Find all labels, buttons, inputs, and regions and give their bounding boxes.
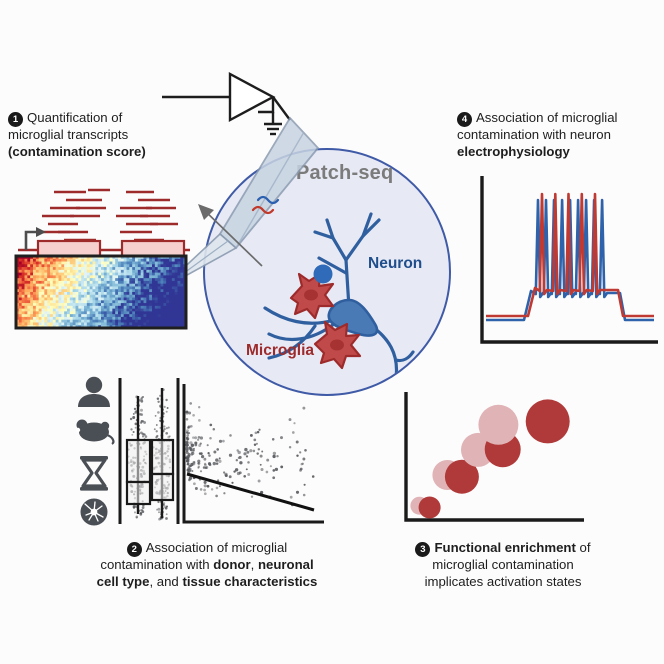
callout-4-line3: electrophysiology [457,144,570,159]
callout-2-bold1: donor [213,557,250,572]
person-icon [78,377,110,407]
callout-2-text2: contamination with [100,557,213,572]
callout-2-bold4: tissue characteristics [182,574,317,589]
callout-4-line2: contamination with neuron [457,127,611,142]
callout-4: 4Association of microglial contamination… [457,110,662,160]
callout-3-line3: implicates activation states [425,574,582,589]
callout-1-line3: (contamination score) [8,144,146,159]
panel2-icon-column [72,374,116,526]
boxplot-chart [118,378,180,526]
read-stack-right [116,192,178,240]
callout-2-text1: Association of microglial [146,540,287,555]
callout-2-text4: , and [149,574,182,589]
hourglass-icon [80,456,108,491]
scatter-axes [184,384,324,522]
bubble-7 [478,405,518,445]
bubble-chart [398,388,588,528]
callout-3-bold1: Functional enrichment [434,540,575,555]
callout-1: 1Quantification of microglial transcript… [8,110,208,160]
ephys-trace-plot [470,172,660,352]
callout-4-line1: Association of microglial [476,110,617,125]
callout-2-badge: 2 [127,542,142,557]
boxplot-group-2 [152,388,173,518]
bubble-8 [526,399,570,443]
scatter-trendline [187,474,314,510]
read-stack-left [38,190,110,240]
graphical-abstract: Patch-seq Neuron Microglia [0,0,664,664]
callout-3-badge: 3 [415,542,430,557]
neuron-circle-icon [81,499,108,526]
callout-2-bold3: cell type [97,574,150,589]
callout-4-badge: 4 [457,112,472,127]
scatter-chart [178,382,326,528]
callout-2: 2Association of microglial contamination… [62,540,352,590]
gene-coverage-track [14,186,194,256]
callout-3-text1: of [576,540,591,555]
callout-3: 3Functional enrichment of microglial con… [358,540,648,590]
expression-heatmap [16,256,186,328]
bubble-2 [419,497,441,519]
callout-1-line1: Quantification of [27,110,122,125]
callout-1-badge: 1 [8,112,23,127]
mouse-icon [76,420,114,445]
callout-3-line2: microglial contamination [432,557,573,572]
callout-1-line2: microglial transcripts [8,127,128,142]
boxplot-group-1 [127,396,150,514]
callout-2-bold2: neuronal [258,557,314,572]
callout-2-text3: , [251,557,258,572]
microglia-label: Microglia [246,342,314,360]
neuron-label: Neuron [368,255,422,273]
